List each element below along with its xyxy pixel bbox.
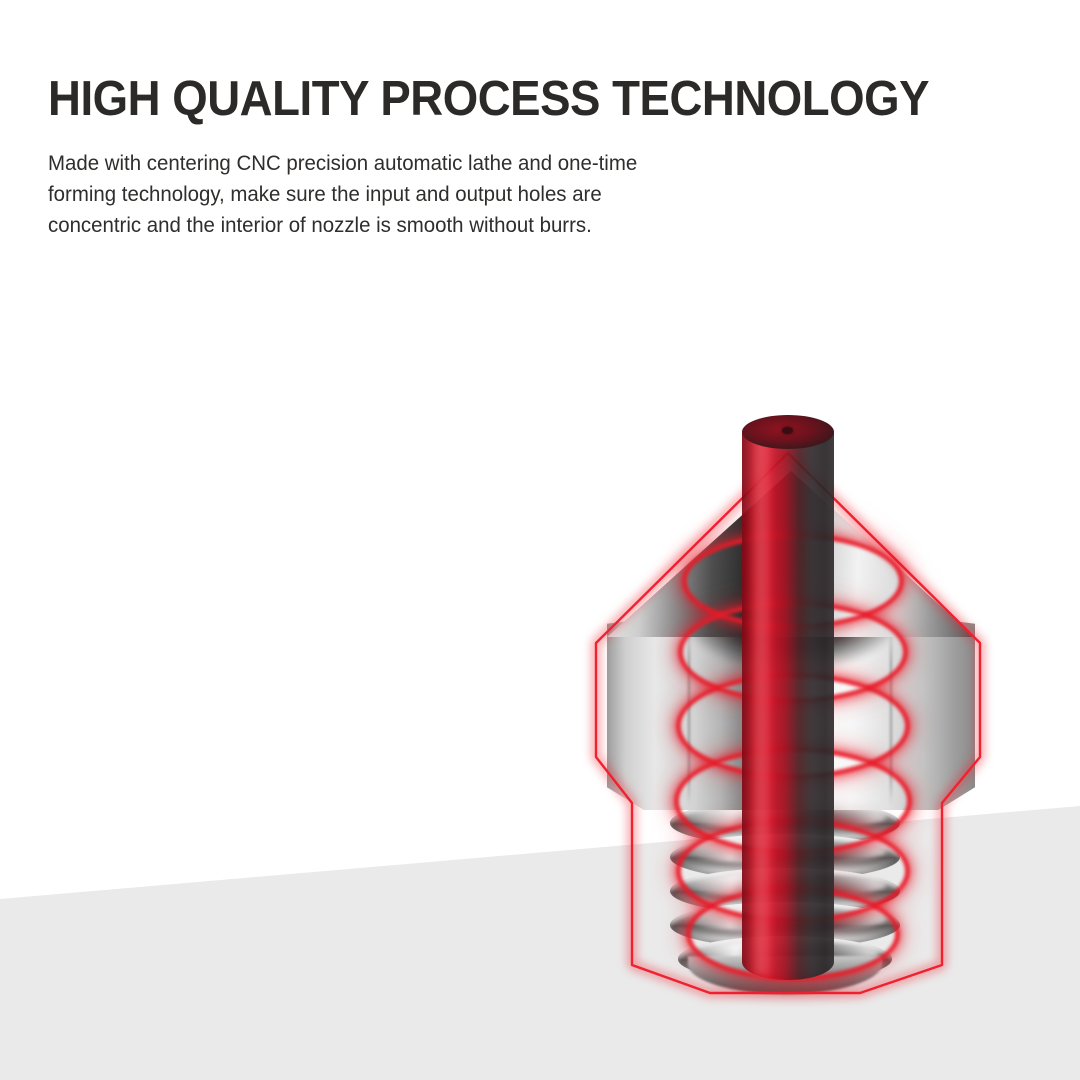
description-line-3: concentric and the interior of nozzle is… [48, 210, 713, 241]
product-feature-slide: HIGH QUALITY PROCESS TECHNOLOGY Made wit… [0, 0, 1080, 1080]
description-line-2: forming technology, make sure the input … [48, 179, 713, 210]
nozzle-orifice [782, 427, 793, 434]
nozzle-product-image [560, 405, 1020, 1025]
description-paragraph: Made with centering CNC precision automa… [48, 148, 713, 241]
page-title: HIGH QUALITY PROCESS TECHNOLOGY [48, 72, 941, 126]
description-line-1: Made with centering CNC precision automa… [48, 148, 713, 179]
bore-highlight [750, 435, 772, 975]
